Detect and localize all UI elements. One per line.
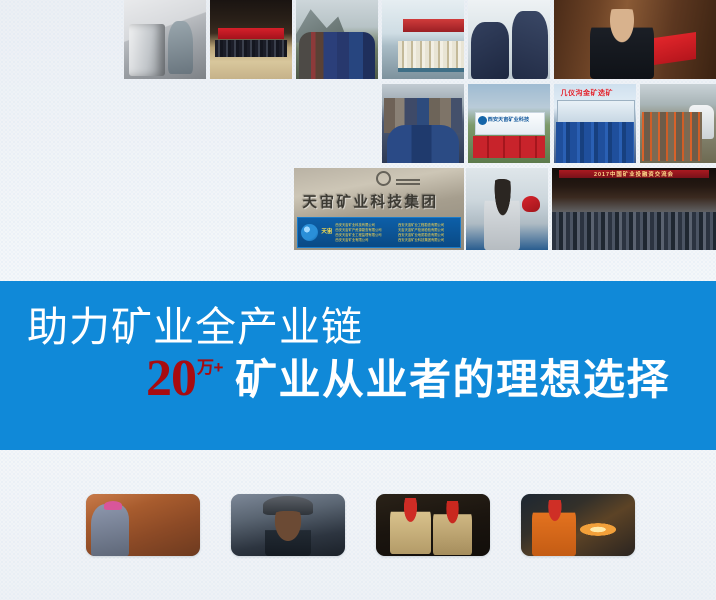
promo-headline-line2: 20 万+ 矿业从业者的理想选择	[146, 355, 670, 403]
collage-photo-lab-equipment-operator[interactable]	[124, 0, 206, 79]
thumbnail-strip	[0, 492, 716, 562]
collage-photo-woman-pouring-sample[interactable]	[466, 168, 548, 250]
plate-brand-name: 天宙	[321, 229, 332, 236]
promo-banner: 助力矿业全产业链 20 万+ 矿业从业者的理想选择	[0, 281, 716, 450]
thumb-geologist-sampling-image	[86, 494, 200, 556]
promo-page: 西安天宙矿业科技 几仪沟金矿选矿 天宙矿业科技集团 天宙 西安天宙矿业科技有限公…	[0, 0, 716, 600]
plate-subsidiary-list: 西安天宙矿业科技有限公司 西安天宙矿业工程勘查有限公司 西安天宙矿产资源勘查有限…	[332, 222, 459, 244]
collage-photo-helmet-crew-van[interactable]	[640, 84, 716, 163]
outdoor-banner-sign-text: 西安天宙矿业科技	[488, 116, 530, 123]
collage-photo-team-group-workers[interactable]	[382, 84, 464, 163]
thumb-smelter-worker-image	[521, 494, 635, 556]
collage-photo-blue-uniform-group[interactable]: 几仪沟金矿选矿	[554, 84, 636, 163]
promo-user-count-unit: 万+	[197, 359, 223, 376]
thumb-geologist-sampling[interactable]	[86, 494, 200, 556]
plate-subsidiary-item: 西安天宙矿业有限公司	[335, 238, 394, 243]
collage-photo-sample-bottling-line[interactable]	[382, 0, 464, 79]
promo-headline-tail: 矿业从业者的理想选择	[235, 359, 670, 403]
globe-icon	[301, 224, 318, 241]
company-subsidiary-plate: 天宙 西安天宙矿业科技有限公司 西安天宙矿业工程勘查有限公司 西安天宙矿产资源勘…	[297, 217, 460, 248]
woman-pouring-sample-image	[466, 168, 548, 250]
collage-photo-company-stone-sign[interactable]: 天宙矿业科技集团 天宙 西安天宙矿业科技有限公司 西安天宙矿业工程勘查有限公司 …	[294, 168, 464, 250]
promo-headline-line1: 助力矿业全产业链	[27, 307, 363, 348]
conference-group-photo-image: 2017中国矿业投融资交流会	[552, 168, 716, 250]
collage-photo-conference-hall-ceremony[interactable]	[210, 0, 292, 79]
conference-hall-ceremony-image	[210, 0, 292, 79]
workshop-two-workers-image	[468, 0, 550, 79]
collage-photo-executive-portrait-flag[interactable]	[554, 0, 716, 79]
thumb-smiling-miner[interactable]	[231, 494, 345, 556]
thumb-red-helmet-workers[interactable]	[376, 494, 490, 556]
outdoor-ceremony-banner-image: 西安天宙矿业科技	[468, 84, 550, 163]
thumb-smelter-worker[interactable]	[521, 494, 635, 556]
mine-name-sign-text: 几仪沟金矿选矿	[561, 88, 614, 98]
photo-collage: 西安天宙矿业科技 几仪沟金矿选矿 天宙矿业科技集团 天宙 西安天宙矿业科技有限公…	[0, 0, 716, 252]
sample-bottling-line-image	[382, 0, 464, 79]
executive-portrait-flag-image	[554, 0, 716, 79]
company-logo-icon	[478, 116, 487, 125]
collage-photo-conference-group-photo[interactable]: 2017中国矿业投融资交流会	[552, 168, 716, 250]
team-group-workers-image	[382, 84, 464, 163]
company-emblem-icon	[376, 171, 391, 186]
company-stone-sign-image: 天宙矿业科技集团 天宙 西安天宙矿业科技有限公司 西安天宙矿业工程勘查有限公司 …	[294, 168, 464, 250]
lab-equipment-operator-image	[124, 0, 206, 79]
field-crew-mountain-image	[296, 0, 378, 79]
collage-photo-workshop-two-workers[interactable]	[468, 0, 550, 79]
conference-banner-title: 2017中国矿业投融资交流会	[552, 170, 716, 178]
plate-subsidiary-item: 西安天宙矿业科技集团有限公司	[398, 238, 457, 243]
thumb-smiling-miner-image	[231, 494, 345, 556]
promo-user-count: 20	[146, 355, 196, 403]
blue-uniform-group-image: 几仪沟金矿选矿	[554, 84, 636, 163]
company-stone-sign-title: 天宙矿业科技集团	[303, 191, 456, 212]
collage-photo-field-crew-mountain[interactable]	[296, 0, 378, 79]
collage-photo-outdoor-ceremony-banner[interactable]: 西安天宙矿业科技	[468, 84, 550, 163]
thumb-red-helmet-workers-image	[376, 494, 490, 556]
helmet-crew-van-image	[640, 84, 716, 163]
